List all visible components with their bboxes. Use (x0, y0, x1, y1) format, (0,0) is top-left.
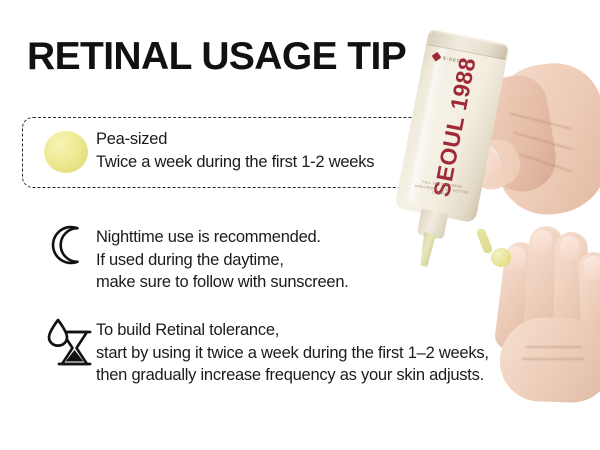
crescent-moon-icon (50, 224, 90, 266)
tube-nozzle (416, 231, 438, 267)
droplet-hourglass-icon (46, 316, 94, 368)
nighttime-tip-text: Nighttime use is recommended. If used du… (96, 226, 349, 294)
product-photo: S:SECRET SEOUL 1988 FULL THE EYE CREAM H… (396, 0, 600, 400)
page-title: RETINAL USAGE TIP (27, 34, 406, 80)
pea-size-callout-text: Pea-sized Twice a week during the first … (96, 128, 374, 173)
pea-sized-dot-icon (44, 131, 88, 173)
poster-canvas: RETINAL USAGE TIP Pea-sized Twice a week… (0, 0, 600, 450)
